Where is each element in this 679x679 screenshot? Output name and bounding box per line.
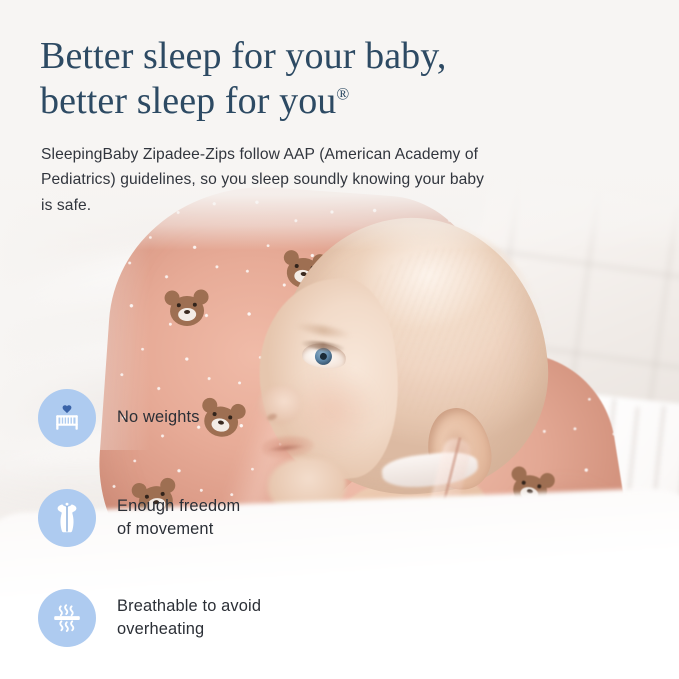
headline-line-2: better sleep for you — [40, 80, 336, 122]
breathable-airflow-icon — [38, 589, 96, 647]
feature-item-no-weights: No weights — [38, 389, 368, 447]
feature-item-breathable: Breathable to avoid overheating — [38, 589, 368, 647]
registered-trademark-symbol: ® — [336, 84, 349, 103]
feature-label: Breathable to avoid overheating — [117, 595, 261, 642]
headline-line-1: Better sleep for your baby, — [40, 35, 447, 77]
page-title: Better sleep for your baby, better sleep… — [40, 34, 560, 124]
feature-label: No weights — [117, 406, 200, 429]
sleep-sack-icon — [38, 489, 96, 547]
subheading-copy: SleepingBaby Zipadee-Zips follow AAP (Am… — [41, 142, 491, 218]
feature-label: Enough freedom of movement — [117, 495, 240, 542]
feature-item-freedom-of-movement: Enough freedom of movement — [38, 489, 368, 547]
feature-list: No weights Enough freedom of movement — [38, 389, 368, 647]
crib-heart-icon — [38, 389, 96, 447]
product-feature-banner: Better sleep for your baby, better sleep… — [0, 0, 679, 679]
